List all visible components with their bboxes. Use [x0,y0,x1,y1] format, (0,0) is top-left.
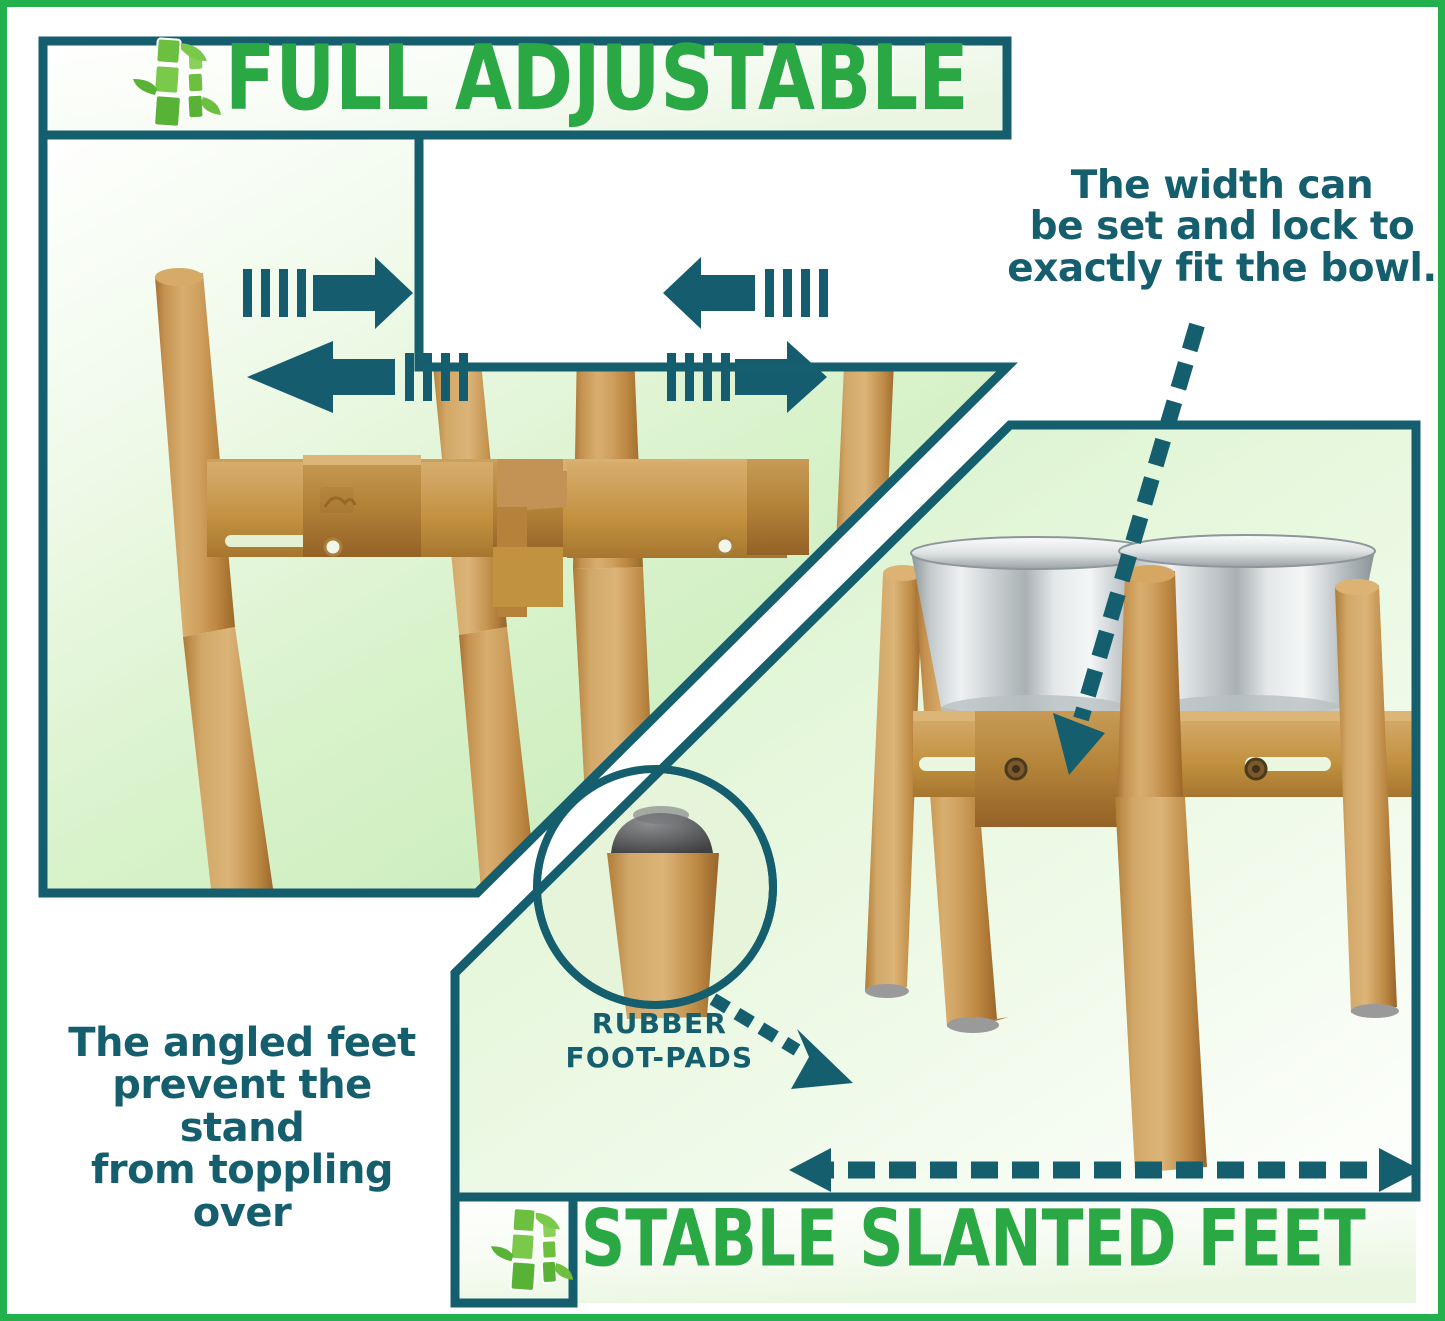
leg-cap-left-front [431,338,479,356]
br-rail-right [1187,711,1445,797]
brand-stamp [320,487,355,513]
leg-cap-left-rear [155,268,203,286]
label-rubber-foot-pads: RUBBER FOOT-PADS [552,1007,767,1075]
adjust-arrow-top-right [663,257,828,329]
br-foot-pad-left [947,1017,999,1033]
br-leg-cap-rear-right [1335,579,1379,595]
post-cap-center [579,228,629,246]
bamboo-icon [489,1205,575,1295]
leg-cap-right-rear [848,290,896,308]
rail-hole-left [325,539,341,555]
infographic-root: FULL ADJUSTABLE STABLE SLANTED FEET The … [0,0,1445,1321]
br-screw-left-core [1012,765,1020,773]
annotation-angled-feet-note: The angled feet prevent the stand from t… [47,1022,437,1234]
bamboo-icon [131,35,223,131]
heading-full-adjustable: FULL ADJUSTABLE [225,25,969,130]
rail-tongue [497,459,567,512]
rail-bracket-left-top [303,455,421,465]
rubber-pad-highlight [633,806,689,824]
br-post-center [1117,571,1183,799]
rail-slot-left [225,535,315,547]
rail-hole-right [717,538,733,554]
annotation-width-note: The width can be set and lock to exactly… [1007,165,1437,289]
br-foot-pad-rear-right [1351,1004,1399,1018]
rail-connector-block [493,547,563,607]
br-screw-right-core [1252,765,1260,773]
rail-right-end [747,459,809,555]
heading-stable-slanted-feet: STABLE SLANTED FEET [581,1195,1366,1285]
br-rail-right-top [1187,711,1445,721]
br-foot-pad-rear-left [865,984,909,998]
br-bracket-left [975,711,1125,827]
